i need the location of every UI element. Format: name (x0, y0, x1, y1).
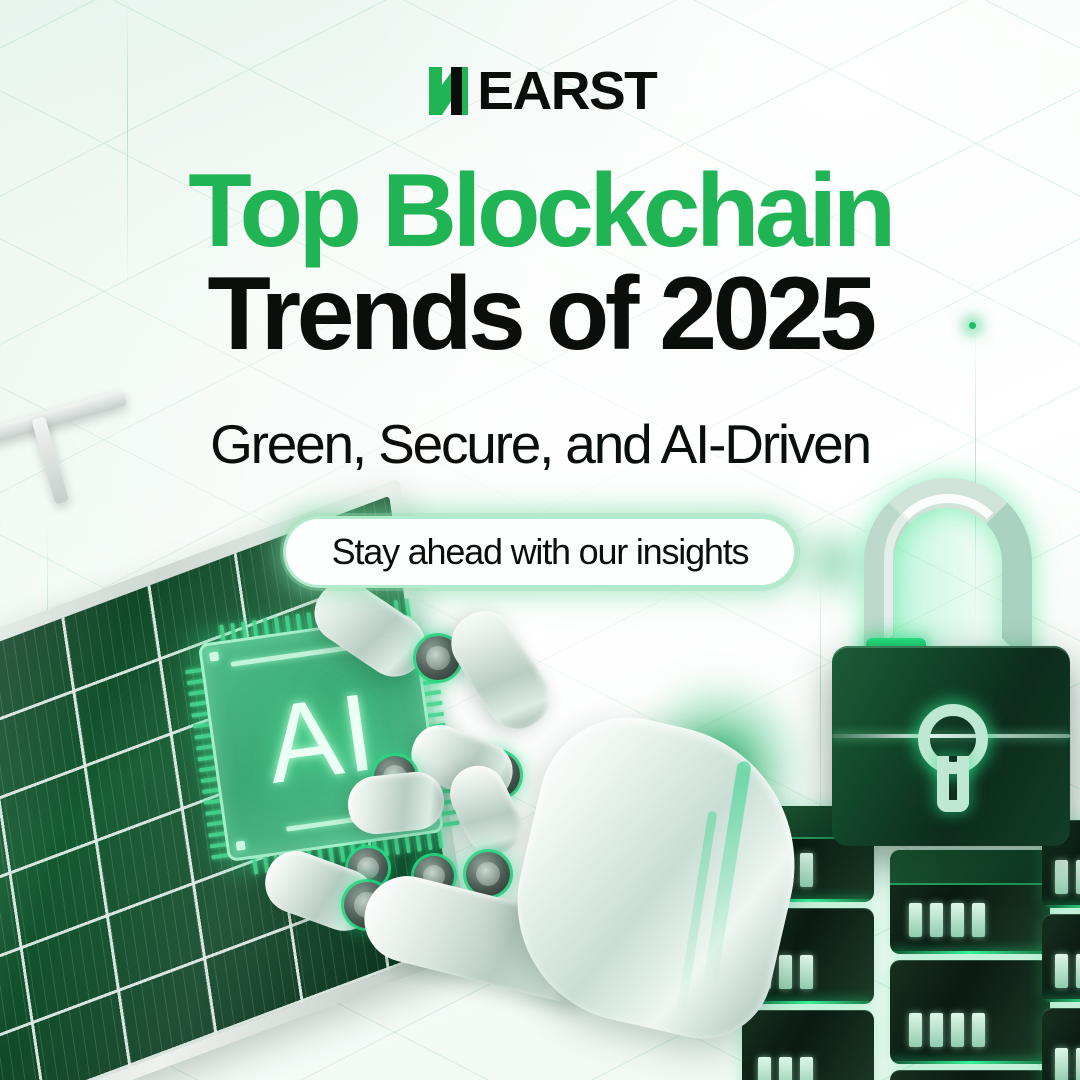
blockchain-server-stack (742, 806, 874, 1080)
padlock-shackle-collar (866, 638, 926, 664)
ai-chip-die (198, 614, 444, 862)
headline-line-2: Trends of 2025 (0, 263, 1080, 366)
padlock-keyhole-icon (910, 704, 996, 814)
chip-pins-left (185, 667, 232, 866)
ai-chip-illustration: AI (180, 596, 463, 880)
server-block (890, 850, 1050, 954)
padlock-seam (832, 734, 1070, 738)
finger-joint (374, 756, 416, 798)
server-block (890, 960, 1050, 1064)
brand-logo-wordmark: EARST (477, 64, 656, 118)
server-block-slots (909, 903, 985, 937)
padlock-body (832, 646, 1070, 846)
thumb-segment (355, 867, 618, 1011)
padlock-shackle-collar (976, 656, 1036, 682)
finger-joint (414, 856, 454, 896)
insights-cta-button[interactable]: Stay ahead with our insights (283, 516, 798, 588)
finger-joint (466, 852, 510, 896)
finger-segment (403, 717, 521, 810)
hearst-h-monogram-icon (425, 65, 481, 117)
finger-joint (474, 752, 520, 798)
server-block-slots (758, 853, 813, 887)
glow-node-dot (60, 618, 69, 627)
server-block (1042, 1008, 1080, 1080)
ai-chip-label: AI (180, 596, 463, 880)
chip-pins-top (219, 597, 418, 644)
accent-vertical-line (820, 570, 821, 860)
cta-container: Stay ahead with our insights (0, 516, 1080, 588)
server-block (742, 908, 874, 1004)
server-block (742, 1010, 874, 1080)
thumb-joint (344, 882, 390, 928)
palm-glow-stripe (676, 811, 718, 1020)
finger-joint (416, 636, 460, 680)
robotic-hand-illustration (288, 560, 808, 1080)
server-block-slots (1055, 954, 1080, 988)
thumb-segment (257, 843, 383, 940)
finger-segment (441, 756, 532, 863)
server-block-slots (909, 1013, 985, 1047)
headline-line-1: Top Blockchain (0, 160, 1080, 263)
page-subtitle: Green, Secure, and AI-Driven (0, 412, 1080, 476)
palm-glow-stripe (702, 760, 752, 989)
server-block (1042, 914, 1080, 1002)
poster-canvas: AI (0, 0, 1080, 1080)
finger-segment (440, 600, 562, 741)
page-title: Top Blockchain Trends of 2025 (0, 160, 1080, 366)
server-block (1042, 820, 1080, 908)
server-block-top (742, 806, 874, 839)
robotic-palm (494, 700, 823, 1053)
chip-pins-bottom (252, 827, 451, 874)
green-radial-glow (630, 676, 808, 854)
server-block (890, 1070, 1050, 1080)
blockchain-server-stack (890, 850, 1050, 1080)
server-block-slots (758, 1057, 813, 1080)
brand-logo[interactable]: EARST (0, 64, 1080, 118)
finger-segment (345, 769, 447, 837)
server-block-slots (1055, 1048, 1080, 1080)
server-block-slots (1055, 860, 1080, 894)
chip-pins-right (413, 635, 460, 834)
blockchain-server-stack (1042, 820, 1080, 1080)
server-block-top (890, 850, 1050, 885)
server-block (742, 806, 874, 902)
green-radial-glow (118, 700, 238, 820)
server-block-slots (758, 955, 813, 989)
finger-joint (348, 848, 388, 888)
